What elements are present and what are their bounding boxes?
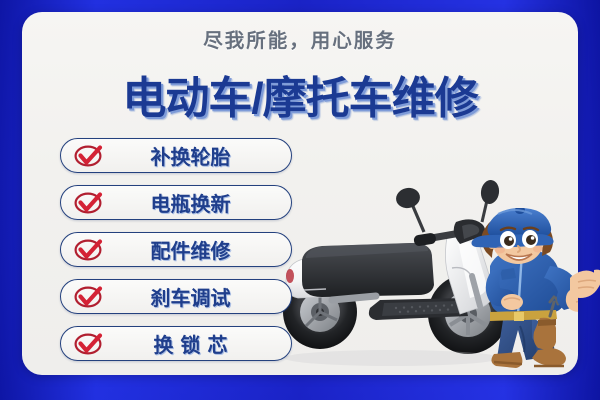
poster-canvas: 尽我所能，用心服务 电动车/摩托车维修 — [0, 0, 600, 400]
service-pill-0[interactable]: 补换轮胎 — [60, 138, 292, 173]
service-pill-4[interactable]: 换锁芯 — [60, 326, 292, 361]
service-pill-3[interactable]: 刹车调试 — [60, 279, 292, 314]
page-title: 电动车/摩托车维修 — [22, 62, 578, 126]
boot-left — [491, 352, 522, 368]
service-label: 补换轮胎 — [104, 141, 291, 170]
mirror-left — [394, 186, 424, 232]
tagline: 尽我所能，用心服务 — [22, 24, 578, 53]
service-label: 刹车调试 — [104, 282, 291, 311]
content-card: 尽我所能，用心服务 电动车/摩托车维修 — [22, 12, 578, 375]
check-circle-icon — [74, 333, 104, 355]
services-list: 补换轮胎 电瓶换新 — [60, 138, 292, 373]
service-pill-1[interactable]: 电瓶换新 — [60, 185, 292, 220]
thumb-overhang — [570, 262, 600, 302]
service-pill-2[interactable]: 配件维修 — [60, 232, 292, 267]
service-label: 电瓶换新 — [104, 188, 291, 217]
check-circle-icon — [74, 145, 104, 167]
hand-left — [501, 294, 523, 310]
check-circle-icon — [74, 286, 104, 308]
check-circle-icon — [74, 239, 104, 261]
mechanic-character-illustration — [454, 208, 578, 375]
check-circle-icon — [74, 192, 104, 214]
service-label: 配件维修 — [104, 235, 291, 264]
service-label: 换锁芯 — [104, 329, 291, 358]
